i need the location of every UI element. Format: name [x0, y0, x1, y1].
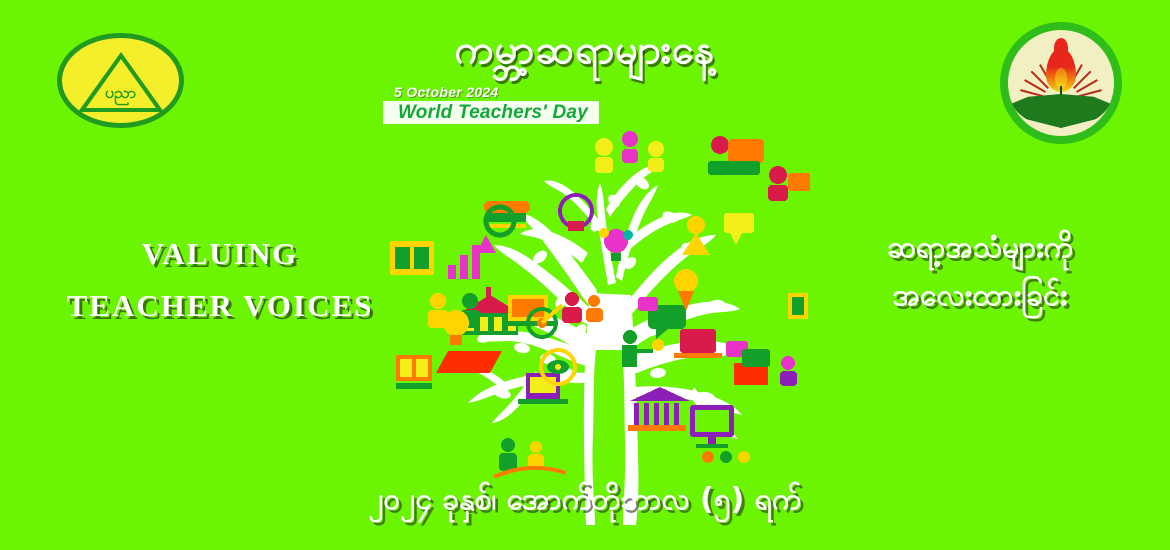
right-people-icon: [780, 356, 797, 386]
emblem-word-label: ပညာ: [105, 85, 136, 101]
page-title-burmese: ကမ္ဘာ့ဆရာများနေ့: [0, 26, 1170, 74]
slogan-burmese-line1: ဆရာ့အသံများကို: [800, 224, 1160, 272]
education-tree-artwork: [390, 105, 810, 525]
people-trio-icon: [595, 131, 664, 173]
slogan-english-line1: VALUING: [10, 228, 430, 280]
top-right-teacher-icon: [708, 136, 764, 175]
ribbon-icon: [436, 351, 502, 373]
growth-chart-icon: [448, 235, 496, 279]
date-english: 5 October 2024: [394, 84, 499, 100]
teacher-and-students-icon: [494, 438, 566, 477]
slogan-english: VALUING TEACHER VOICES: [10, 228, 430, 332]
slogan-english-line2: TEACHER VOICES: [10, 280, 430, 332]
top-right-duo-icon: [768, 166, 810, 201]
right-presentation-icon: [724, 213, 754, 245]
slogan-burmese: ဆရာ့အသံများကို အလေးထားခြင်း: [800, 224, 1160, 320]
poster-canvas: ပညာ ကမ္ဘာ့ဆရာများနေ့ 5 October 2024 Worl…: [0, 0, 1170, 550]
laptop-icon: [674, 329, 722, 358]
graduation-cap-icon: [484, 201, 530, 228]
slogan-burmese-line2: အလေးထားခြင်း: [800, 272, 1160, 320]
open-book-icon: [396, 355, 432, 389]
footer-date-burmese: ၂၀၂၄ ခုနှစ်၊ အောက်တိုဘာလ (၅) ရက်: [0, 478, 1170, 522]
classroom-seats-icon: [702, 451, 750, 463]
chat-pair-icon: [726, 341, 770, 367]
mentor-icon: [682, 216, 710, 255]
monitor-icon: [690, 405, 734, 448]
idea-sun-icon: [443, 310, 469, 345]
